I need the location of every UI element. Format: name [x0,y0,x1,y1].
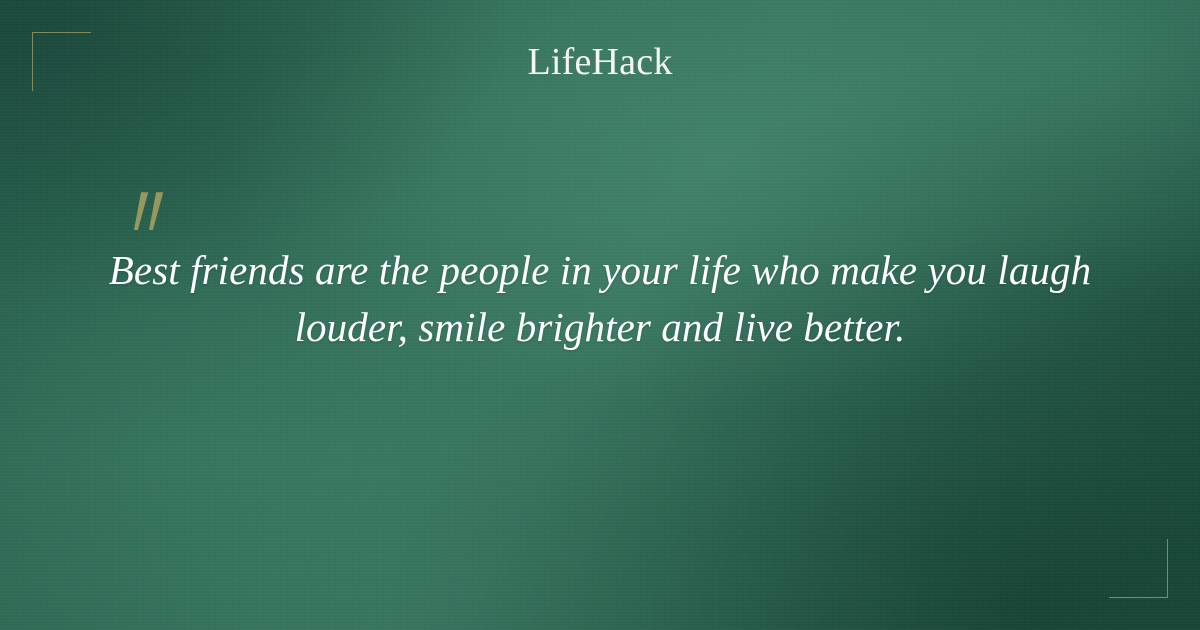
brand-logo: LifeHack [0,40,1200,84]
quote-line-2: louder, smile brighter and live better. [100,299,1100,356]
quote-mark-icon [133,190,1100,242]
quote-card: LifeHack Best friends are the people in … [0,0,1200,630]
corner-bracket-bottom-right-icon [1109,539,1168,598]
brand-name: LifeHack [527,40,672,84]
quote-block: Best friends are the people in your life… [100,190,1100,356]
quote-line-1: Best friends are the people in your life… [100,242,1100,299]
